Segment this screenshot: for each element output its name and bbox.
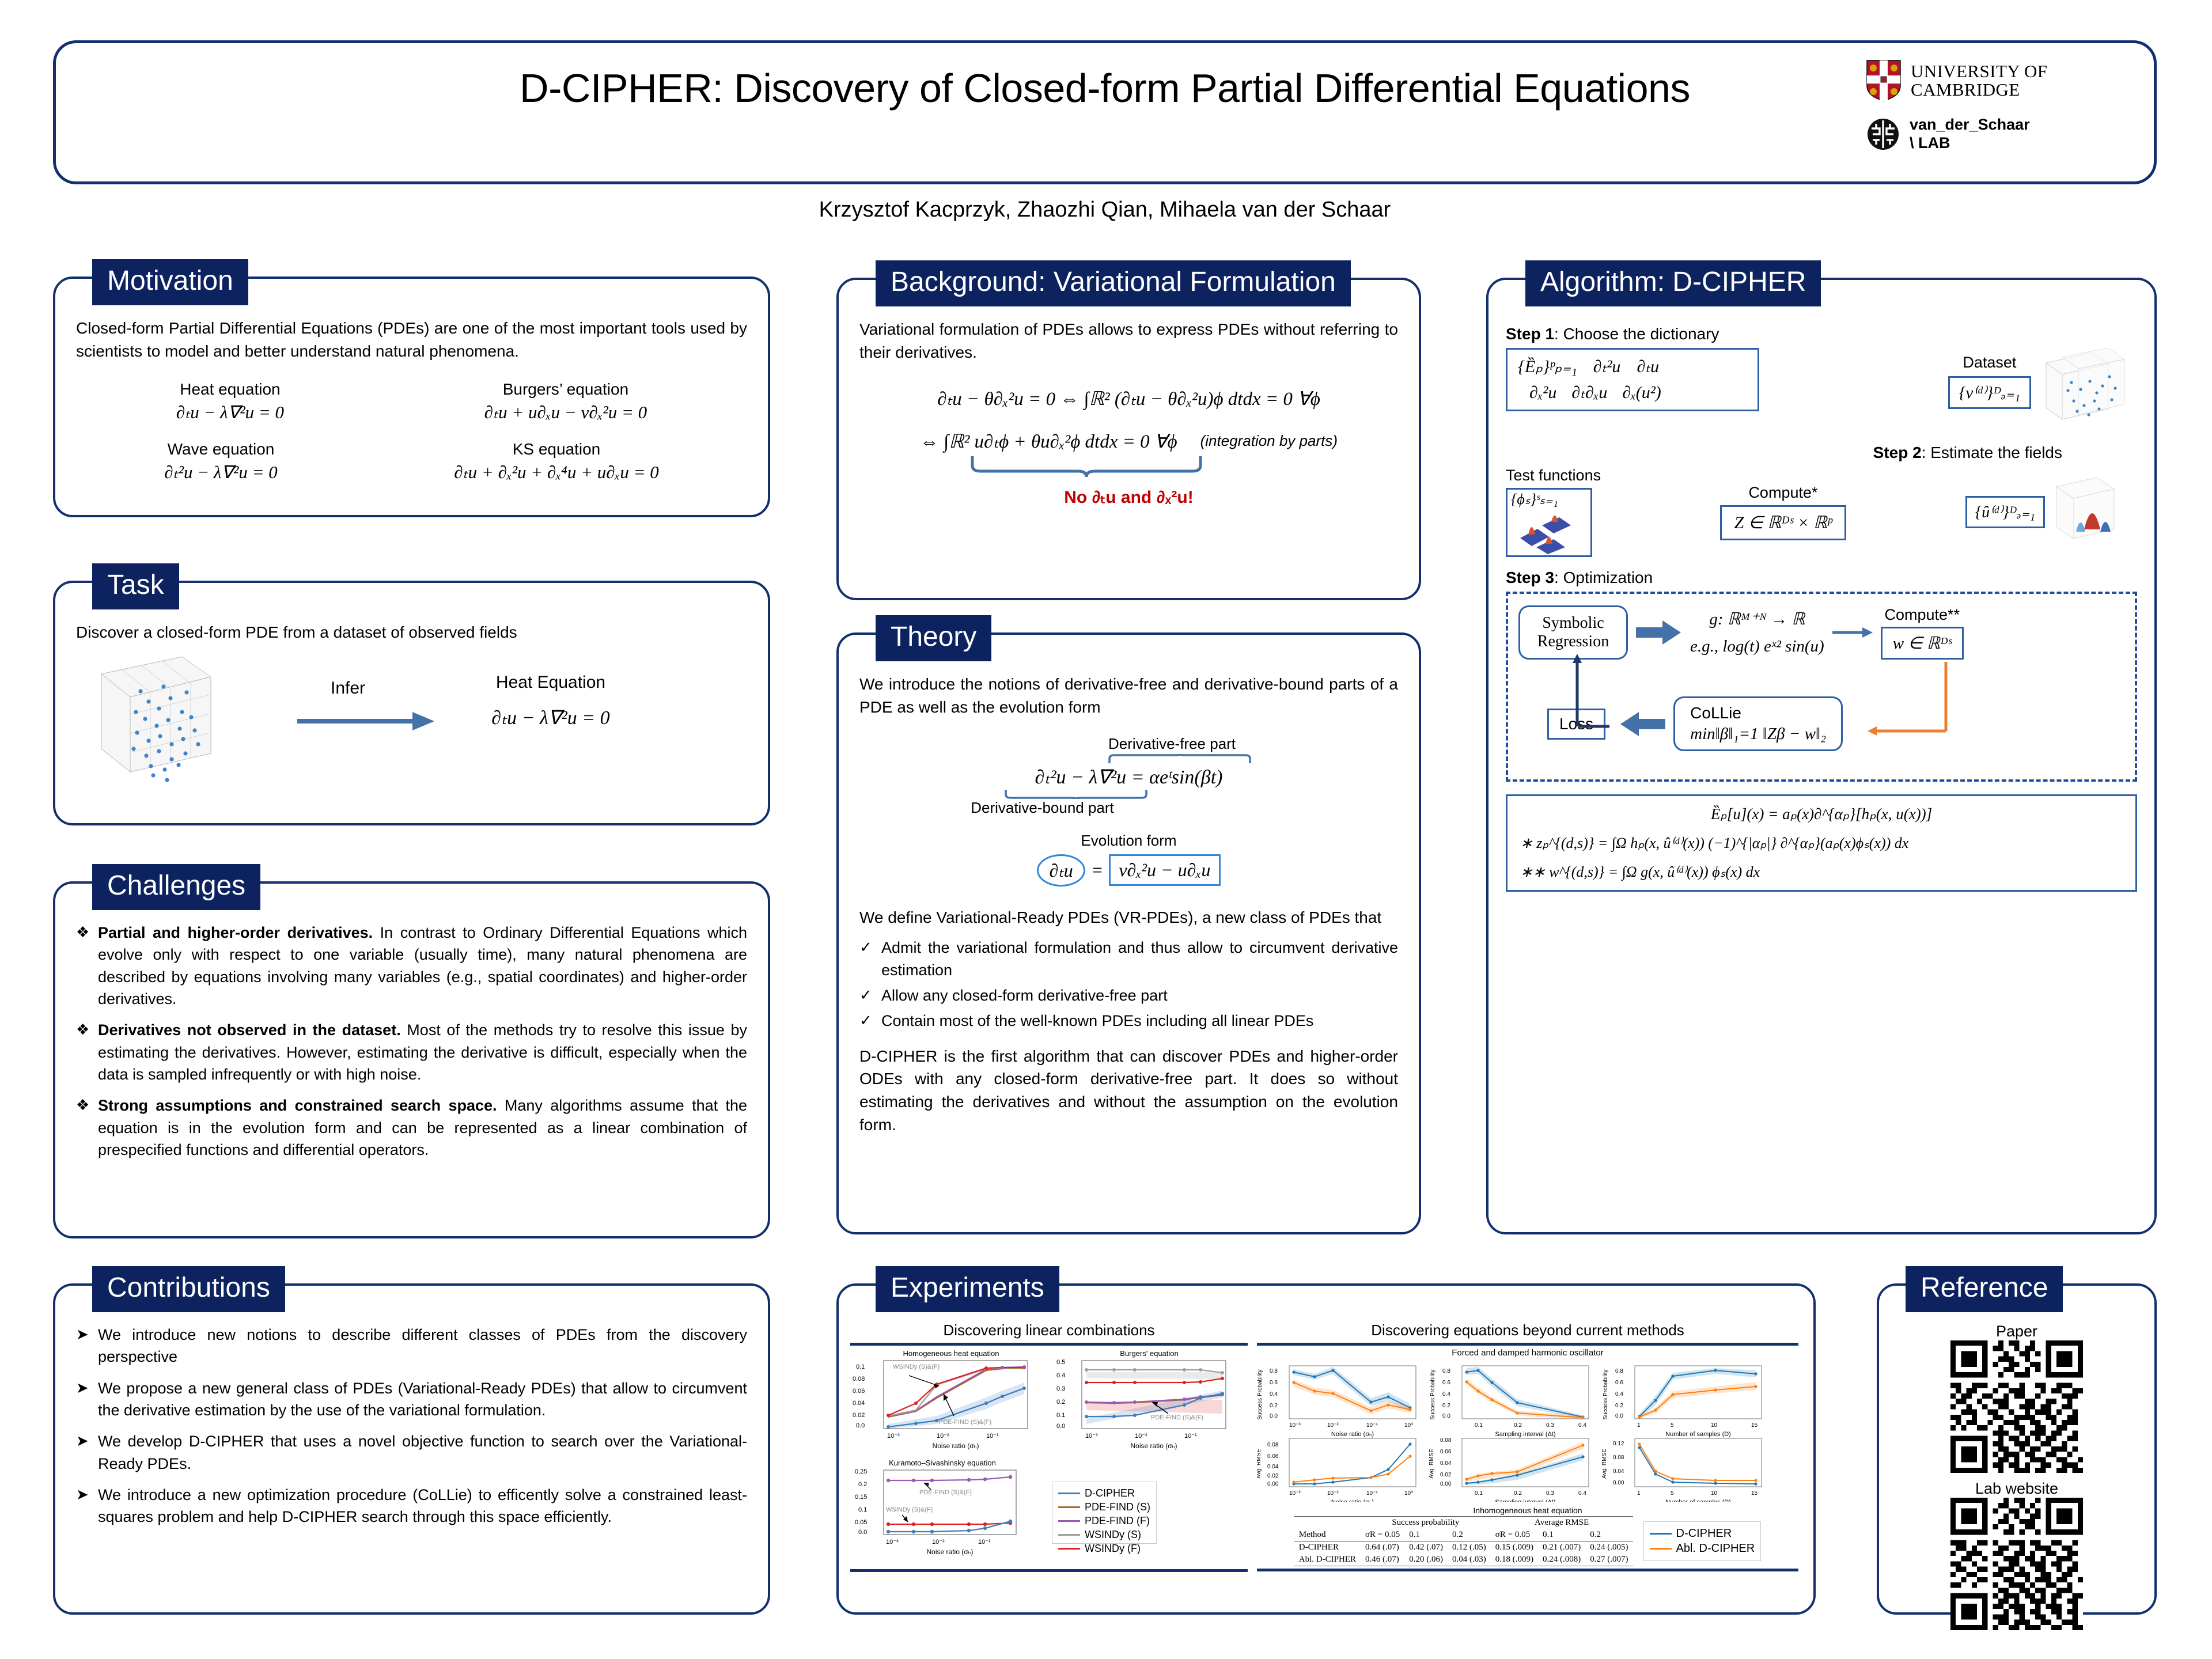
svg-text:0.25: 0.25 [855,1468,867,1475]
list-item: ➤ We propose a new general class of PDEs… [76,1377,747,1422]
step2-text: : Estimate the fields [1922,444,2062,461]
cambridge-line2: CAMBRIDGE [1911,81,2047,99]
collie-box: CoLLie min‖β‖₁=1 ‖Zβ − w‖₂ [1673,696,1843,751]
theory-check-list: ✓ Admit the variational formulation and … [859,937,1398,1032]
svg-text:0.06: 0.06 [1267,1453,1279,1460]
section-title-experiments: Experiments [876,1266,1059,1312]
arrow-bullet-icon: ➤ [76,1430,89,1452]
poster-header: D-CIPHER: Discovery of Closed-form Parti… [53,40,2157,184]
svg-text:0.1: 0.1 [1056,1412,1065,1419]
check-icon: ✓ [859,937,872,958]
lab-website-qr-code-icon[interactable] [1950,1498,2083,1630]
results-table-title: Inhomogeneous heat equation [1257,1506,1798,1515]
challenges-list: ❖ Partial and higher-order derivatives. … [76,922,747,1161]
brace-icon [969,454,1338,479]
theory-main-eq-left: ∂ₜ²u − λ∇²u = [1035,767,1145,788]
testfn-label: Test functions [1506,467,1601,484]
svg-text:0.08: 0.08 [1440,1437,1452,1444]
legend-swatch-wsindy-s [1058,1534,1080,1536]
svg-text:15: 15 [1751,1490,1758,1497]
g-example: e.g., log(t) eˣ² sin(u) [1690,637,1824,656]
svg-text:0.08: 0.08 [1613,1455,1624,1461]
svg-text:WSINDy (S)&(F): WSINDy (S)&(F) [893,1363,940,1370]
dataset-math: {v⁽ᵈ⁾}ᴰₔ₌₁ [1948,376,2031,409]
paper-label: Paper [1900,1323,2134,1340]
task-body: Discover a closed-form PDE from a datase… [55,583,768,823]
diamond-bullet-icon: ❖ [76,1019,89,1040]
formula-box: Ȅₚ[u](x) = aₚ(x)∂^{αₚ}[hₚ(x, u(x))] ∗ zₚ… [1506,794,2137,892]
theory-main-equation: ∂ₜ²u − λ∇²u = αeᵗsin(βt) [859,766,1398,789]
svg-text:0.2: 0.2 [1442,1403,1450,1409]
svg-text:10⁻¹: 10⁻¹ [986,1433,999,1440]
theory-vr-intro: We define Variational-Ready PDEs (VR-PDE… [859,906,1398,929]
equation-label: KS equation [454,440,659,459]
list-item: ✓ Allow any closed-form derivative-free … [859,984,1398,1006]
svg-text:0.08: 0.08 [853,1376,865,1382]
svg-text:0.8: 0.8 [1270,1368,1278,1374]
svg-text:0.3: 0.3 [1546,1422,1554,1429]
section-theory: Theory We introduce the notions of deriv… [836,632,1421,1234]
svg-text:0.04: 0.04 [1440,1460,1452,1467]
svg-text:0.08: 0.08 [1267,1442,1279,1448]
experiments-left-panel: Discovering linear combinations Homogene… [850,1321,1248,1572]
svg-text:10⁻²: 10⁻² [1327,1490,1339,1497]
equation-math: ∂ₜu − λ∇²u = 0 [176,402,284,423]
svg-text:0.12: 0.12 [1613,1441,1624,1447]
svg-text:Number of samples (D): Number of samples (D) [1665,1499,1731,1502]
theory-label-evolution: Evolution form [859,832,1398,850]
svg-text:0.2: 0.2 [1270,1403,1278,1409]
equation-heat: Heat equation ∂ₜu − λ∇²u = 0 [176,380,284,423]
equation-math: ∂ₜu + ∂ₓ²u + ∂ₓ⁴u + u∂ₓu = 0 [454,462,659,483]
legend-label: D-CIPHER [1085,1487,1135,1499]
divider [1257,1569,1798,1571]
list-item: ➤ We introduce new notions to describe d… [76,1324,747,1368]
svg-text:Noise ratio (σₕ): Noise ratio (σₕ) [1131,1442,1177,1450]
svg-text:0.1: 0.1 [858,1506,867,1513]
author-list: Krzysztof Kacprzyk, Zhaozhi Qian, Mihael… [56,198,2154,222]
svg-text:0.1: 0.1 [856,1363,865,1370]
task-result-label: Heat Equation [496,673,605,692]
col-sp-02: 0.2 [1448,1529,1491,1541]
svg-text:10⁻²: 10⁻² [932,1539,945,1546]
check-text: Contain most of the well-known PDEs incl… [881,1012,1313,1029]
svg-text:0.4: 0.4 [1270,1391,1278,1397]
legend-swatch-abl-d-cipher [1650,1548,1672,1550]
dictionary-entry: ∂ₓ(u²) [1622,383,1661,403]
legend-item: D-CIPHER [1058,1487,1150,1499]
svg-text:0.5: 0.5 [1056,1359,1065,1366]
svg-text:1: 1 [1637,1422,1641,1429]
legend-swatch-d-cipher [1650,1533,1672,1535]
svg-text:0.06: 0.06 [853,1388,865,1395]
section-title-reference: Reference [1906,1266,2063,1312]
section-title-challenges: Challenges [92,864,260,910]
svg-text:Noise ratio (σₕ): Noise ratio (σₕ) [933,1442,979,1450]
svg-text:0.2: 0.2 [858,1481,867,1488]
theory-main-eq-right: αeᵗsin(βt) [1149,767,1222,788]
equation-label: Burgers’ equation [484,380,647,399]
svg-text:0.2: 0.2 [1514,1490,1522,1497]
svg-text:0.3: 0.3 [1056,1385,1065,1392]
section-contributions: Contributions ➤ We introduce new notions… [53,1283,770,1615]
compute1-label: Compute* [1720,484,1847,502]
svg-text:PDE-FIND (S)&(F): PDE-FIND (S)&(F) [939,1419,991,1426]
poster-root: D-CIPHER: Discovery of Closed-form Parti… [0,0,2212,1659]
divider [1257,1343,1798,1346]
legend-item: Abl. D-CIPHER [1650,1542,1755,1555]
svg-text:1: 1 [1637,1490,1641,1497]
cell: 0.15 (.009) [1491,1541,1538,1554]
cambridge-shield-icon [1866,59,1902,102]
svg-text:Success Probability: Success Probability [1603,1369,1609,1419]
legend-item: WSINDy (F) [1058,1543,1150,1555]
experiments-right-heading: Discovering equations beyond current met… [1257,1321,1798,1339]
list-item: ✓ Admit the variational formulation and … [859,937,1398,981]
dictionary-entry: ∂ₓ²u [1529,383,1556,403]
svg-text:0.00: 0.00 [1267,1481,1279,1487]
svg-text:0.02: 0.02 [1440,1472,1452,1478]
svg-text:0.05: 0.05 [855,1519,867,1526]
brace-free-icon [1107,754,1280,764]
equation-ks: KS equation ∂ₜu + ∂ₓ²u + ∂ₓ⁴u + u∂ₓu = 0 [454,440,659,483]
svg-text:10⁻³: 10⁻³ [1289,1422,1301,1429]
svg-text:0.0: 0.0 [858,1529,867,1536]
legend-swatch-d-cipher [1058,1493,1080,1494]
algorithm-step3: Step 3: Optimization [1506,569,2137,587]
lab-website-label: Lab website [1900,1480,2134,1498]
equation-label: Wave equation [164,440,278,459]
experiments-right-legend: D-CIPHER Abl. D-CIPHER [1643,1521,1762,1561]
brain-icon [1866,117,1900,151]
svg-text:5: 5 [1671,1422,1674,1429]
challenges-body: ❖ Partial and higher-order derivatives. … [55,884,768,1236]
dictionary-entry: {Ȅₚ}ᵖₚ₌₁ [1518,357,1577,377]
svg-text:10: 10 [1711,1490,1718,1497]
theory-intro: We introduce the notions of derivative-f… [859,673,1398,719]
legend-label: D-CIPHER [1676,1527,1732,1540]
thick-arrow-right-icon [1636,618,1682,647]
step1-text: : Choose the dictionary [1554,325,1719,343]
legend-label: WSINDy (F) [1085,1543,1141,1555]
svg-text:0.6: 0.6 [1270,1380,1278,1386]
legend-label: PDE-FIND (F) [1085,1515,1150,1527]
background-equation-2-note: (integration by parts) [1200,432,1338,450]
list-item: ➤ We introduce a new optimization proced… [76,1484,747,1528]
check-text: Allow any closed-form derivative-free pa… [881,987,1168,1004]
loss-box: Loss [1547,709,1605,740]
svg-text:Kuramoto–Sivashinsky equation: Kuramoto–Sivashinsky equation [889,1459,996,1467]
svg-text:0.3: 0.3 [1546,1490,1554,1497]
uhat-math: {û⁽ᵈ⁾}ᴰₔ₌₁ [1965,496,2045,528]
task-result-math: ∂ₜu − λ∇²u = 0 [491,707,609,729]
svg-text:Noise ratio (σₕ): Noise ratio (σₕ) [1331,1431,1374,1438]
legend-item: PDE-FIND (F) [1058,1515,1150,1527]
compute2-math: w ∈ ℝᴰˢ [1881,627,1964,660]
formula-main: Ȅₚ[u](x) = aₚ(x)∂^{αₚ}[hₚ(x, u(x))] [1520,805,2123,823]
cell: Abl. D-CIPHER [1294,1554,1361,1566]
svg-text:0.2: 0.2 [1514,1422,1522,1429]
results-table: Success probability Average RMSE Method … [1294,1516,1633,1566]
thick-arrow-left-icon [1613,710,1665,738]
arrow-right-icon [1832,626,1873,639]
list-item: ❖ Strong assumptions and constrained sea… [76,1094,747,1161]
theory-label-free: Derivative-free part [946,735,1398,753]
check-text: Admit the variational formulation and th… [881,939,1398,978]
svg-text:Sampling interval (Δt): Sampling interval (Δt) [1495,1499,1555,1502]
algorithm-body: Step 1: Choose the dictionary {Ȅₚ}ᵖₚ₌₁ ∂… [1488,280,2154,1232]
svg-text:Avg. RMSE: Avg. RMSE [1601,1449,1608,1479]
svg-text:0.0: 0.0 [1270,1413,1278,1419]
chart-burgers: Burgers' equation 0.50.4 0.30.2 0.10.0 1… [1048,1349,1244,1457]
equation-burgers: Burgers’ equation ∂ₜu + u∂ₓu − ν∂ₓ²u = 0 [484,380,647,423]
section-title-task: Task [92,563,179,609]
svg-text:0.4: 0.4 [1578,1490,1586,1497]
oscillator-group-title: Forced and damped harmonic oscillator [1257,1348,1798,1358]
svg-text:0.00: 0.00 [1613,1480,1624,1486]
reference-body: Paper [1879,1286,2154,1612]
logo-block: UNIVERSITY OF CAMBRIDGE van_der_Schaar \… [1866,59,2131,153]
legend-item: PDE-FIND (S) [1058,1501,1150,1513]
chart-homogeneous-heat: Homogeneous heat equation 0.10.08 0.060.… [850,1349,1046,1457]
section-title-background: Background: Variational Formulation [876,260,1351,306]
testfn-box: {ϕₛ}ˢₛ₌₁ [1506,488,1592,557]
paper-qr-code-icon[interactable] [1950,1340,2083,1473]
testfn-math: {ϕₛ}ˢₛ₌₁ [1508,490,1590,509]
list-item: ✓ Contain most of the well-known PDEs in… [859,1010,1398,1032]
section-background: Background: Variational Formulation Vari… [836,278,1421,600]
compute2-label: Compute** [1881,606,1964,624]
experiments-left-legend: D-CIPHER PDE-FIND (S) PDE-FIND (F) WSIND… [1052,1482,1157,1544]
list-item: ❖ Derivatives not observed in the datase… [76,1019,747,1085]
estimated-field-surface-icon [2051,474,2137,550]
table-row: D-CIPHER 0.64 (.07) 0.42 (.07) 0.12 (.05… [1294,1541,1633,1554]
g-signature: g: ℝᴹ⁺ᴺ → ℝ [1690,609,1824,629]
dictionary-entry: ∂ₜ²u [1593,357,1621,377]
svg-text:0.06: 0.06 [1440,1449,1452,1455]
svg-text:0.00: 0.00 [1440,1481,1452,1487]
dictionary-entry: ∂ₜ∂ₓu [1571,382,1607,403]
algorithm-step2: Step 2: Estimate the fields [1506,444,2137,462]
svg-text:Avg. RMSE: Avg. RMSE [1429,1449,1435,1479]
background-equation-1: ∂ₜu − θ∂ₓ²u = 0 ⇔ ∫ℝ² (∂ₜu − θ∂ₓ²u)ϕ dtd… [859,387,1398,410]
svg-text:Number of samples (D): Number of samples (D) [1665,1431,1731,1438]
svg-text:0.04: 0.04 [1613,1468,1624,1475]
equation-label: Heat equation [176,380,284,399]
cambridge-logo: UNIVERSITY OF CAMBRIDGE [1866,59,2131,102]
svg-text:Avg. RMSE: Avg. RMSE [1257,1449,1262,1479]
svg-text:PDE-FIND (S)&(F): PDE-FIND (S)&(F) [919,1489,972,1496]
cell: 0.42 (.07) [1404,1541,1448,1554]
dictionary-box: {Ȅₚ}ᵖₚ₌₁ ∂ₜ²u ∂ₜu ∂ₓ²u ∂ₜ∂ₓu ∂ₓ(u²) [1506,348,1759,411]
svg-text:0.0: 0.0 [1442,1413,1450,1419]
svg-text:10⁻³: 10⁻³ [1289,1490,1301,1497]
background-intro: Variational formulation of PDEs allows t… [859,318,1398,364]
compute1-math: Z ∈ ℝᴰˢ × ℝᵖ [1720,505,1847,540]
page-title: D-CIPHER: Discovery of Closed-form Parti… [56,65,2154,111]
equation-math: ∂ₜ²u − λ∇²u = 0 [164,462,278,483]
section-challenges: Challenges ❖ Partial and higher-order de… [53,881,770,1238]
cambridge-wordmark: UNIVERSITY OF CAMBRIDGE [1911,62,2047,99]
svg-text:10⁰: 10⁰ [1404,1490,1413,1497]
background-callout: No ∂ₜu and ∂ₓ²u! [859,487,1398,507]
step1-bold: Step 1 [1506,325,1554,343]
vds-wordmark: van_der_Schaar \ LAB [1910,116,2030,153]
contributions-body: ➤ We introduce new notions to describe d… [55,1286,768,1612]
svg-text:0.6: 0.6 [1442,1380,1450,1386]
svg-text:0.8: 0.8 [1615,1368,1623,1374]
cell: 0.20 (.06) [1404,1554,1448,1566]
cell: 0.46 (.07) [1361,1554,1404,1566]
svg-text:5: 5 [1671,1490,1674,1497]
step2-bold: Step 2 [1873,444,1922,461]
task-arrow-label: Infer [331,679,365,698]
task-intro: Discover a closed-form PDE from a datase… [76,621,747,644]
equation-wave: Wave equation ∂ₜ²u − λ∇²u = 0 [164,440,278,483]
optimization-dashed-box: Symbolic Regression g: ℝᴹ⁺ᴺ → ℝ e.g., lo… [1506,592,2137,782]
cell: 0.64 (.07) [1361,1541,1404,1554]
svg-text:0.2: 0.2 [1056,1399,1065,1406]
motivation-equation-row-2: Wave equation ∂ₜ²u − λ∇²u = 0 KS equatio… [76,440,747,483]
equation-math: ∂ₜu + u∂ₓu − ν∂ₓ²u = 0 [484,402,647,423]
svg-text:0.4: 0.4 [1442,1391,1450,1397]
collie-objective: min‖β‖₁=1 ‖Zβ − w‖₂ [1690,725,1826,744]
arrow-bullet-icon: ➤ [76,1377,89,1399]
list-item: ➤ We develop D-CIPHER that uses a novel … [76,1430,747,1475]
challenge-bold: Derivatives not observed in the dataset. [98,1021,401,1039]
cell: 0.24 (.008) [1538,1554,1585,1566]
infer-arrow-icon [297,712,434,730]
legend-item: WSINDy (S) [1058,1529,1150,1541]
svg-text:10⁻³: 10⁻³ [886,1539,899,1546]
svg-text:10⁻¹: 10⁻¹ [1184,1433,1197,1440]
legend-swatch-pdefind-s [1058,1506,1080,1508]
svg-text:10⁻²: 10⁻² [1327,1422,1339,1429]
svg-text:10⁻²: 10⁻² [937,1433,949,1440]
motivation-body: Closed-form Partial Differential Equatio… [55,279,768,515]
check-icon: ✓ [859,984,872,1006]
legend-label: Abl. D-CIPHER [1676,1542,1755,1555]
test-function-surface-icon [1511,512,1592,554]
svg-text:10⁻¹: 10⁻¹ [978,1539,991,1546]
svg-text:10⁻¹: 10⁻¹ [1366,1490,1378,1497]
check-icon: ✓ [859,1010,872,1031]
svg-text:0.0: 0.0 [1056,1423,1065,1430]
evolution-lhs: ∂ₜu [1037,854,1085,887]
legend-label: PDE-FIND (S) [1085,1501,1150,1513]
svg-text:0.1: 0.1 [1475,1490,1483,1497]
cell: 0.18 (.009) [1491,1554,1538,1566]
experiments-body: Discovering linear combinations Homogene… [839,1286,1813,1612]
svg-text:10: 10 [1711,1422,1718,1429]
motivation-intro: Closed-form Partial Differential Equatio… [76,317,747,363]
svg-text:10⁻²: 10⁻² [1135,1433,1147,1440]
section-title-motivation: Motivation [92,259,248,305]
collie-label: CoLLie [1690,704,1826,722]
section-task: Task Discover a closed-form PDE from a d… [53,581,770,825]
svg-text:15: 15 [1751,1422,1758,1429]
svg-text:0.6: 0.6 [1615,1380,1623,1386]
background-equation-2-row: ⇔ ∫ℝ² u∂ₜϕ + θu∂ₓ²ϕ dtdx = 0 ∀ϕ (integra… [859,430,1398,453]
cell: 0.27 (.007) [1585,1554,1633,1566]
svg-text:0.4: 0.4 [1578,1422,1586,1429]
svg-text:10⁻³: 10⁻³ [887,1433,900,1440]
cambridge-line1: UNIVERSITY OF [1911,62,2047,81]
theory-evolution-form: ∂ₜu = ν∂ₓ²u − u∂ₓu [859,854,1398,887]
list-item: ❖ Partial and higher-order derivatives. … [76,922,747,1010]
col-rmse-005: σR = 0.05 [1491,1529,1538,1541]
svg-text:0.1: 0.1 [1475,1422,1483,1429]
legend-label: WSINDy (S) [1085,1529,1141,1541]
cell: 0.12 (.05) [1448,1541,1491,1554]
brace-bound-icon [1003,789,1176,799]
svg-text:Burgers' equation: Burgers' equation [1120,1349,1179,1358]
cell: 0.21 (.007) [1538,1541,1585,1554]
group-header-success: Success probability [1361,1517,1491,1529]
section-experiments: Experiments Discovering linear combinati… [836,1283,1816,1615]
formula-starstar: ∗∗ w^{(d,s)} = ∫Ω g(x, û⁽ᵈ⁾(x)) ϕₛ(x) dx [1520,863,2123,881]
col-rmse-02: 0.2 [1585,1529,1633,1541]
vds-line1: van_der_Schaar [1910,116,2030,134]
chart-grid-oscillator: 0.80.6 0.40.2 0.0 10⁻³10⁻² 10⁻¹10⁰ Noise… [1257,1358,1793,1502]
group-header-rmse: Average RMSE [1491,1517,1633,1529]
svg-text:0.8: 0.8 [1442,1368,1450,1374]
svg-text:0.04: 0.04 [853,1400,865,1407]
section-algorithm: Algorithm: D-CIPHER Step 1: Choose the d… [1486,278,2157,1234]
svg-text:0.0: 0.0 [856,1422,865,1429]
contributions-list: ➤ We introduce new notions to describe d… [76,1324,747,1528]
background-body: Variational formulation of PDEs allows t… [839,280,1419,598]
dataset-scatter-icon [2039,348,2137,434]
col-method: Method [1294,1529,1361,1541]
challenge-bold: Strong assumptions and constrained searc… [98,1097,497,1114]
table-row: Abl. D-CIPHER 0.46 (.07) 0.20 (.06) 0.04… [1294,1554,1633,1566]
evolution-rhs: ν∂ₓ²u − u∂ₓu [1109,854,1220,886]
svg-text:10⁻³: 10⁻³ [1085,1433,1098,1440]
col-rmse-01: 0.1 [1538,1529,1585,1541]
background-equation-2: ⇔ ∫ℝ² u∂ₜϕ + θu∂ₓ²ϕ dtdx = 0 ∀ϕ [920,430,1177,453]
step3-text: : Optimization [1554,569,1653,586]
legend-item: D-CIPHER [1650,1527,1755,1540]
svg-text:Success Probability: Success Probability [1430,1369,1436,1419]
col-sp-005: σR = 0.05 [1361,1529,1404,1541]
step3-bold: Step 3 [1506,569,1554,586]
contribution-text: We develop D-CIPHER that uses a novel ob… [98,1433,747,1472]
contribution-text: We propose a new general class of PDEs (… [98,1380,747,1419]
svg-text:WSINDy (S)&(F): WSINDy (S)&(F) [886,1506,933,1513]
svg-text:Noise ratio (σₕ): Noise ratio (σₕ) [927,1548,974,1556]
challenge-bold: Partial and higher-order derivatives. [98,924,373,941]
table-header-row: Method σR = 0.05 0.1 0.2 σR = 0.05 0.1 0… [1294,1529,1633,1541]
svg-text:10⁻¹: 10⁻¹ [1366,1422,1378,1429]
evolution-equals: = [1091,859,1104,881]
legend-swatch-pdefind-f [1058,1520,1080,1522]
svg-text:0.02: 0.02 [853,1412,865,1419]
svg-text:0.4: 0.4 [1615,1391,1623,1397]
svg-text:0.2: 0.2 [1615,1403,1623,1409]
symbolic-regression-box: Symbolic Regression [1518,605,1628,660]
cell: D-CIPHER [1294,1541,1361,1554]
theory-closing: D-CIPHER is the first algorithm that can… [859,1045,1398,1137]
svg-text:0.04: 0.04 [1267,1464,1279,1470]
task-figure: Infer Heat Equation ∂ₜu − λ∇²u = 0 [73,652,735,802]
section-title-contributions: Contributions [92,1266,285,1312]
section-title-algorithm: Algorithm: D-CIPHER [1525,260,1821,306]
divider [850,1569,1248,1572]
cell: 0.04 (.03) [1448,1554,1491,1566]
scatter-cube-icon [101,657,211,782]
diamond-bullet-icon: ❖ [76,922,89,943]
